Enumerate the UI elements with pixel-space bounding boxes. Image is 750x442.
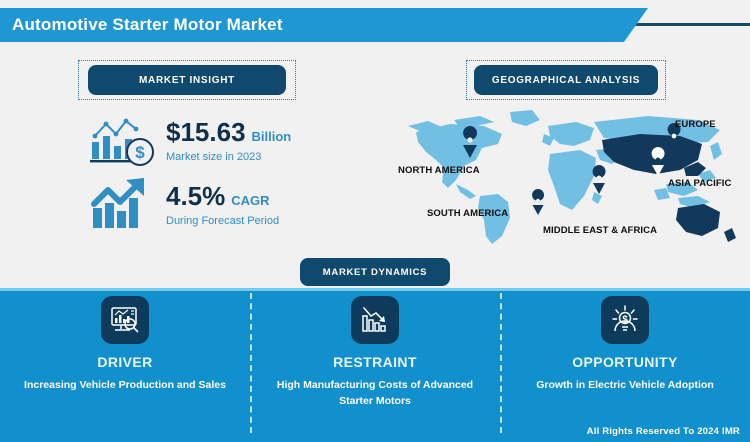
map-label-asia-pacific: ASIA PACIFIC bbox=[668, 178, 731, 189]
dynamics-column-driver: DRIVER Increasing Vehicle Production and… bbox=[0, 296, 250, 393]
svg-text:$: $ bbox=[135, 143, 145, 162]
stat-market-size-unit: Billion bbox=[252, 130, 292, 144]
stat-market-size-value: $15.63 bbox=[166, 119, 246, 146]
map-label-middle-east-africa: MIDDLE EAST & AFRICA bbox=[543, 225, 657, 236]
monitor-analytics-icon bbox=[101, 296, 149, 344]
stat-cagr-unit: CAGR bbox=[231, 194, 269, 208]
lightbulb-dollar-icon: $ bbox=[601, 296, 649, 344]
footer-copyright: All Rights Reserved To 2024 IMR bbox=[587, 426, 740, 437]
header: Automotive Starter Motor Market bbox=[0, 8, 750, 42]
stat-cagr-text: 4.5% CAGR During Forecast Period bbox=[166, 183, 279, 227]
panel-top-accent bbox=[0, 288, 750, 291]
map-label-europe: EUROPE bbox=[675, 119, 716, 130]
stat-cagr-value: 4.5% bbox=[166, 183, 225, 210]
page-title: Automotive Starter Motor Market bbox=[12, 8, 283, 42]
declining-bar-chart-icon bbox=[351, 296, 399, 344]
dynamics-desc-driver: Increasing Vehicle Production and Sales bbox=[0, 377, 250, 393]
stat-market-size-text: $15.63 Billion Market size in 2023 bbox=[166, 119, 291, 163]
map-label-south-america: SOUTH AMERICA bbox=[427, 208, 508, 219]
stat-market-size-caption: Market size in 2023 bbox=[166, 151, 291, 163]
stat-cagr-value-row: 4.5% CAGR bbox=[166, 183, 279, 210]
dynamics-title-opportunity: OPPORTUNITY bbox=[500, 354, 750, 370]
infographic-canvas: Automotive Starter Motor Market MARKET I… bbox=[0, 0, 750, 442]
dynamics-column-opportunity: $ OPPORTUNITY Growth in Electric Vehicle… bbox=[500, 296, 750, 393]
svg-text:$: $ bbox=[622, 315, 628, 326]
growth-arrow-icon bbox=[88, 176, 158, 234]
map-label-north-america: NORTH AMERICA bbox=[398, 165, 480, 176]
market-dynamics-pill: MARKET DYNAMICS bbox=[300, 258, 450, 286]
bar-chart-dollar-icon: $ bbox=[88, 112, 158, 170]
dynamics-title-driver: DRIVER bbox=[0, 354, 250, 370]
stat-cagr: 4.5% CAGR During Forecast Period bbox=[88, 176, 279, 234]
dynamics-title-restraint: RESTRAINT bbox=[250, 354, 500, 370]
stat-market-size-value-row: $15.63 Billion bbox=[166, 119, 291, 146]
stat-cagr-caption: During Forecast Period bbox=[166, 215, 279, 227]
dynamics-column-restraint: RESTRAINT High Manufacturing Costs of Ad… bbox=[250, 296, 500, 410]
market-insight-pill: MARKET INSIGHT bbox=[88, 65, 286, 95]
dynamics-desc-restraint: High Manufacturing Costs of Advanced Sta… bbox=[250, 377, 500, 410]
dynamics-desc-opportunity: Growth in Electric Vehicle Adoption bbox=[500, 377, 750, 393]
stat-market-size: $ $15.63 Billion Market size in 2023 bbox=[88, 112, 291, 170]
geographical-analysis-pill: GEOGRAPHICAL ANALYSIS bbox=[474, 65, 658, 95]
